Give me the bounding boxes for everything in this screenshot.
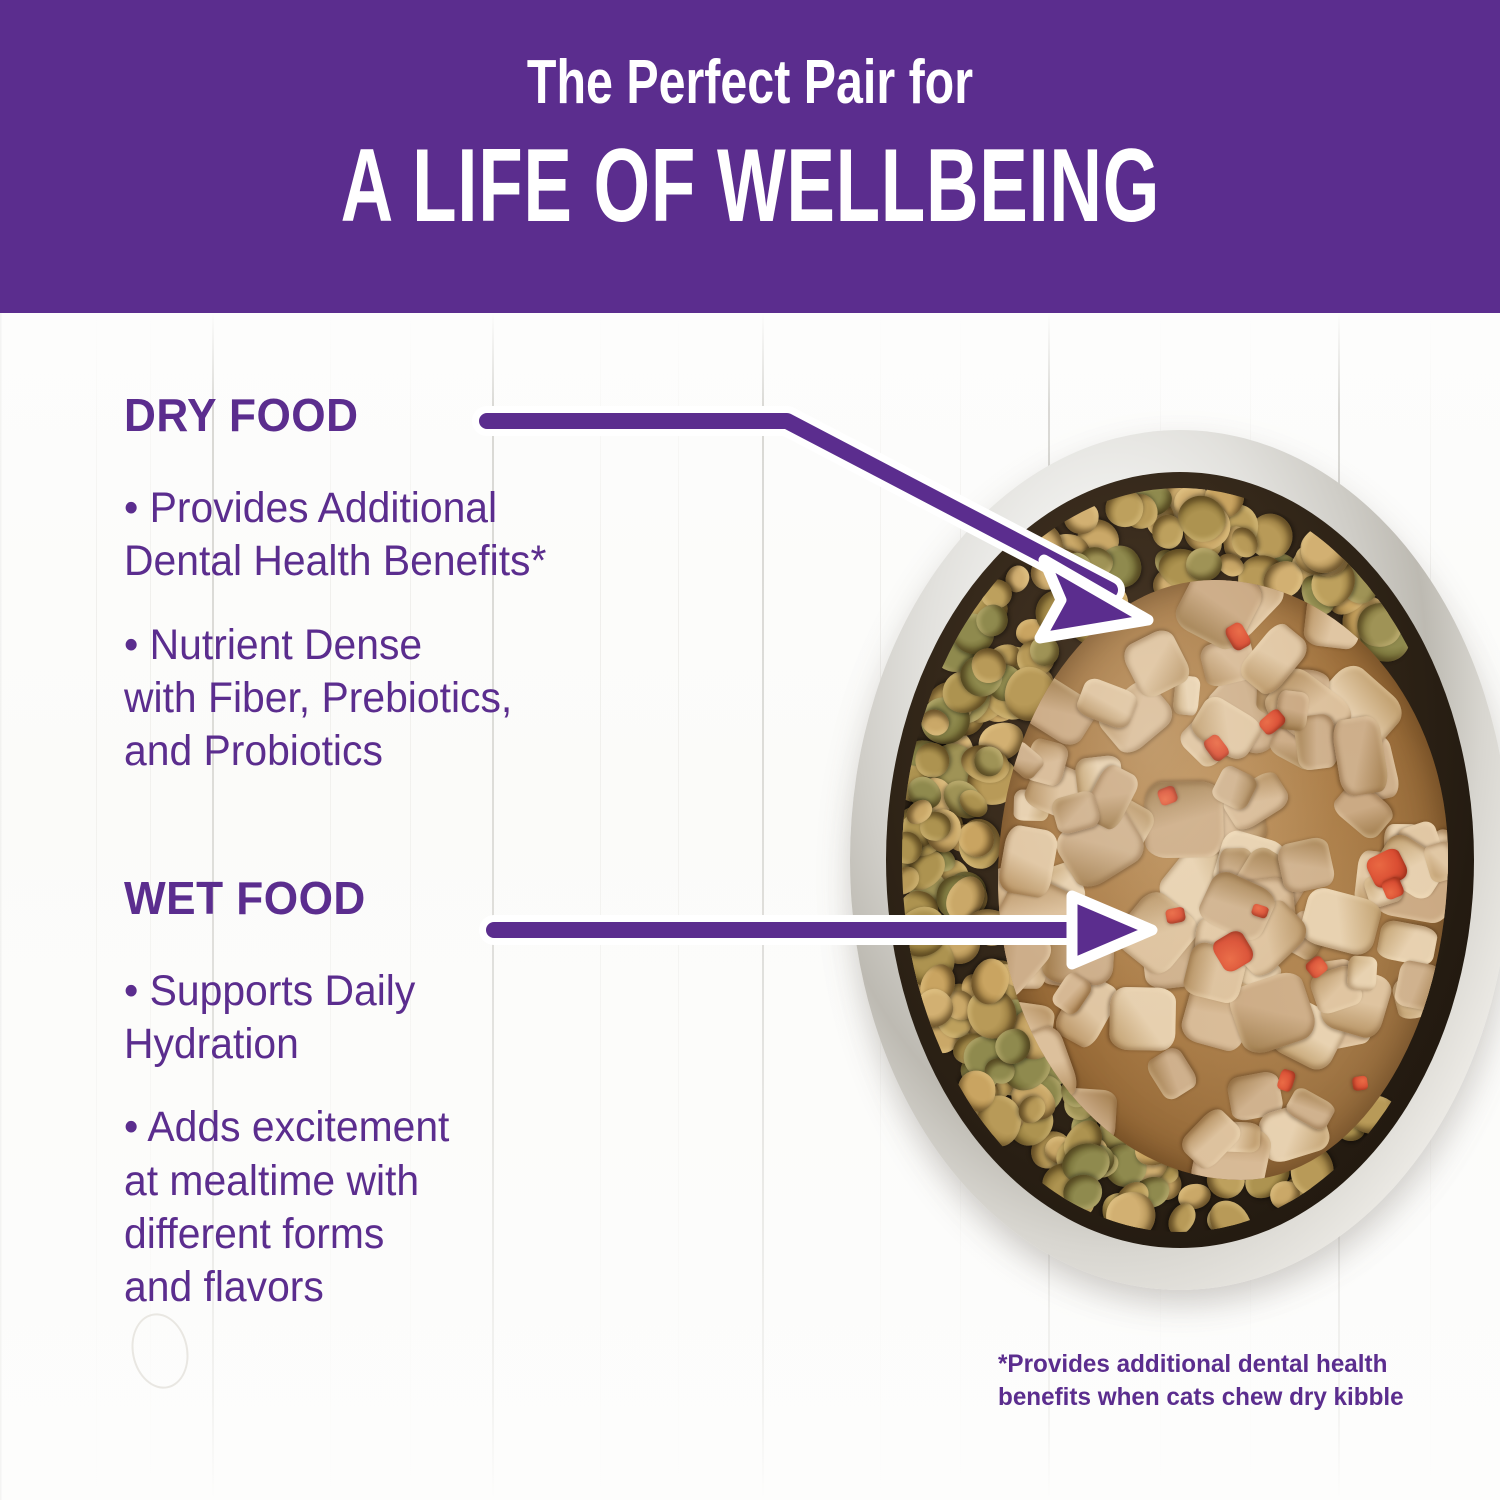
footnote-line-1: *Provides additional dental health: [998, 1348, 1415, 1381]
gravy-gloss: [998, 580, 1448, 1180]
wet-food-heading: WET FOOD: [124, 875, 786, 921]
header-band: The Perfect Pair for A LIFE OF WELLBEING: [0, 0, 1500, 313]
bullet-line: and Probiotics: [124, 725, 780, 778]
bullet-line: Dental Health Benefits*: [124, 535, 780, 588]
header-subtitle: The Perfect Pair for: [527, 52, 973, 114]
product-infographic: The Perfect Pair for A LIFE OF WELLBEING…: [0, 0, 1500, 1500]
bullet-line: at mealtime with: [124, 1155, 780, 1208]
bullet-line: and flavors: [124, 1261, 780, 1314]
footnote-line-2: benefits when cats chew dry kibble: [998, 1381, 1415, 1414]
pet-food-bowl-image: {}: [850, 430, 1500, 1310]
bullet-line: different forms: [124, 1208, 780, 1261]
bullet-line: • Supports Daily: [124, 965, 780, 1018]
wet-food-bullet-1: • Supports Daily Hydration: [124, 965, 780, 1072]
bullet-line: • Nutrient Dense: [124, 619, 780, 672]
dry-food-heading: DRY FOOD: [124, 392, 786, 438]
bullet-line: • Adds excitement: [124, 1101, 780, 1154]
wet-food-center: [998, 580, 1448, 1180]
bullet-line: with Fiber, Prebiotics,: [124, 672, 780, 725]
dry-food-bullet-1: • Provides Additional Dental Health Bene…: [124, 482, 780, 589]
dry-food-bullet-2: • Nutrient Dense with Fiber, Prebiotics,…: [124, 619, 780, 779]
footnote: *Provides additional dental health benef…: [998, 1348, 1415, 1413]
bullet-line: Hydration: [124, 1018, 780, 1071]
bullet-line: • Provides Additional: [124, 482, 780, 535]
wet-food-bullet-2: • Adds excitement at mealtime with diffe…: [124, 1101, 780, 1314]
header-title: A LIFE OF WELLBEING: [340, 134, 1159, 238]
benefits-copy: DRY FOOD • Provides Additional Dental He…: [124, 392, 814, 1314]
